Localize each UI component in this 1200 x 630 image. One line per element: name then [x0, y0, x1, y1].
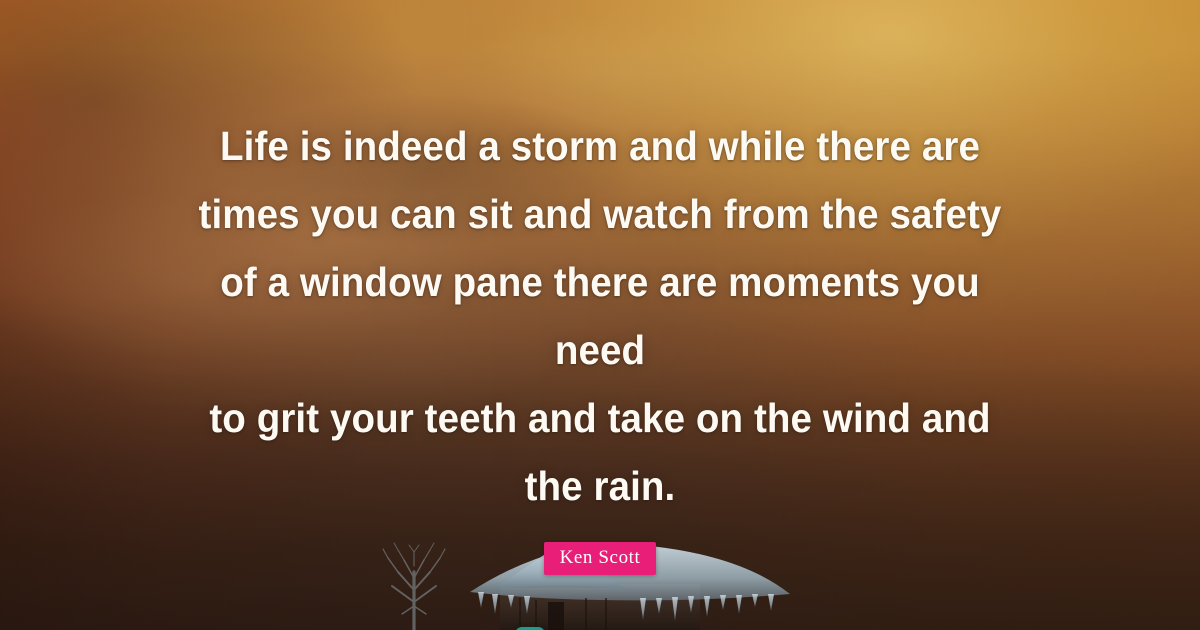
card-content: Life is indeed a storm and while there a…	[0, 0, 1200, 630]
author-badge[interactable]: Ken Scott	[544, 542, 657, 575]
author-row: Ken Scott	[544, 542, 657, 575]
quote-card: Life is indeed a storm and while there a…	[0, 0, 1200, 630]
quote-text: Life is indeed a storm and while there a…	[186, 112, 1013, 520]
